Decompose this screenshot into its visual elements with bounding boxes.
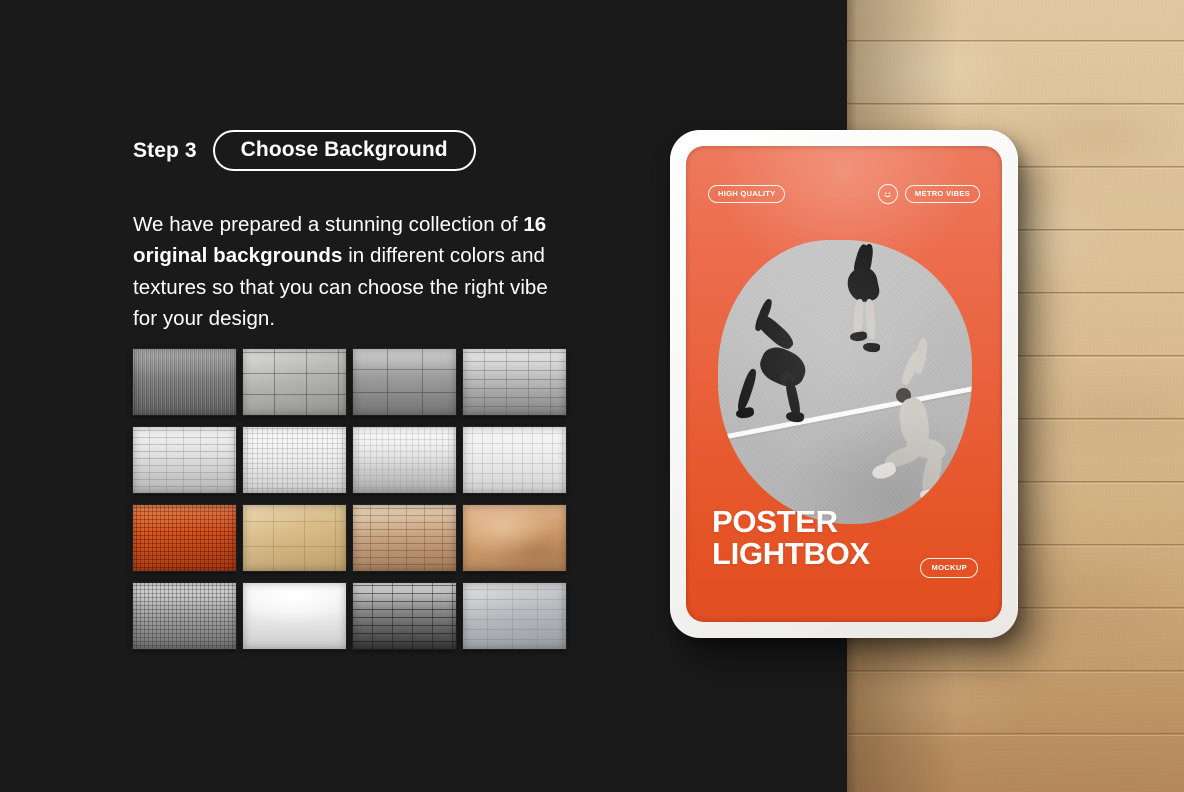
swatch-texture (463, 427, 566, 493)
swatch-texture (353, 583, 456, 649)
swatch-gradient-grid-white[interactable] (353, 427, 456, 493)
poster-title: POSTER LIGHTBOX (712, 506, 870, 570)
swatch-texture (463, 505, 566, 571)
swatch-light-grid-white[interactable] (463, 427, 566, 493)
background-swatch-grid (133, 349, 573, 649)
swatch-texture (243, 349, 346, 415)
swatch-brushed-metal-dark[interactable] (133, 349, 236, 415)
swatch-large-tile-gray[interactable] (243, 349, 346, 415)
step-pill-badge: Choose Background (213, 130, 476, 171)
swatch-brick-white[interactable] (133, 427, 236, 493)
swatch-texture (243, 427, 346, 493)
athlete-leg (735, 368, 758, 413)
swatch-texture (353, 349, 456, 415)
athlete-shoe (786, 411, 805, 423)
step-label: Step 3 (133, 139, 197, 163)
poster-artwork: HIGH QUALITY METRO VIBES (686, 146, 1002, 622)
swatch-large-tile-beige[interactable] (243, 505, 346, 571)
swatch-texture (243, 583, 346, 649)
athlete-torso (845, 265, 881, 304)
poster-title-line-1: POSTER (712, 506, 870, 538)
swatch-brick-dark-gray[interactable] (353, 583, 456, 649)
step-heading: Step 3 Choose Background (133, 130, 476, 171)
swatch-texture (133, 427, 236, 493)
swatch-large-tile-dark-gray[interactable] (353, 349, 456, 415)
swatch-texture (353, 427, 456, 493)
badge-high-quality: HIGH QUALITY (708, 185, 785, 204)
athlete-figure-right (864, 336, 964, 516)
swatch-texture (133, 505, 236, 571)
swatch-texture (133, 583, 236, 649)
swatch-mosaic-orange[interactable] (133, 505, 236, 571)
badge-mockup: MOCKUP (920, 558, 978, 578)
athlete-shoe (919, 489, 942, 504)
athlete-shoe (870, 461, 897, 482)
swatch-brick-light-gray[interactable] (463, 583, 566, 649)
smiley-face-icon (878, 184, 898, 204)
swatch-texture (133, 349, 236, 415)
description-paragraph: We have prepared a stunning collection o… (133, 209, 553, 335)
swatch-brick-tan[interactable] (353, 505, 456, 571)
badge-metro-vibes: METRO VIBES (905, 185, 980, 204)
swatch-fine-grid-white[interactable] (243, 427, 346, 493)
swatch-texture (243, 505, 346, 571)
poster-photo-blob (718, 240, 972, 524)
mockup-presentation-slide: Step 3 Choose Background We have prepare… (0, 0, 1184, 792)
swatch-texture (463, 349, 566, 415)
swatch-plain-white[interactable] (243, 583, 346, 649)
athlete-figure-left (736, 298, 822, 438)
swatch-brick-gray[interactable] (463, 349, 566, 415)
athlete-leg (852, 299, 864, 336)
badge-group-right: METRO VIBES (878, 184, 980, 204)
paragraph-part-1: We have prepared a stunning collection o… (133, 213, 523, 236)
swatch-plain-terracotta[interactable] (463, 505, 566, 571)
poster-badge-row: HIGH QUALITY METRO VIBES (686, 184, 1002, 204)
swatch-mosaic-gray[interactable] (133, 583, 236, 649)
swatch-texture (353, 505, 456, 571)
swatch-texture (463, 583, 566, 649)
poster-title-line-2: LIGHTBOX (712, 538, 870, 570)
poster-lightbox-frame: HIGH QUALITY METRO VIBES (670, 130, 1018, 638)
